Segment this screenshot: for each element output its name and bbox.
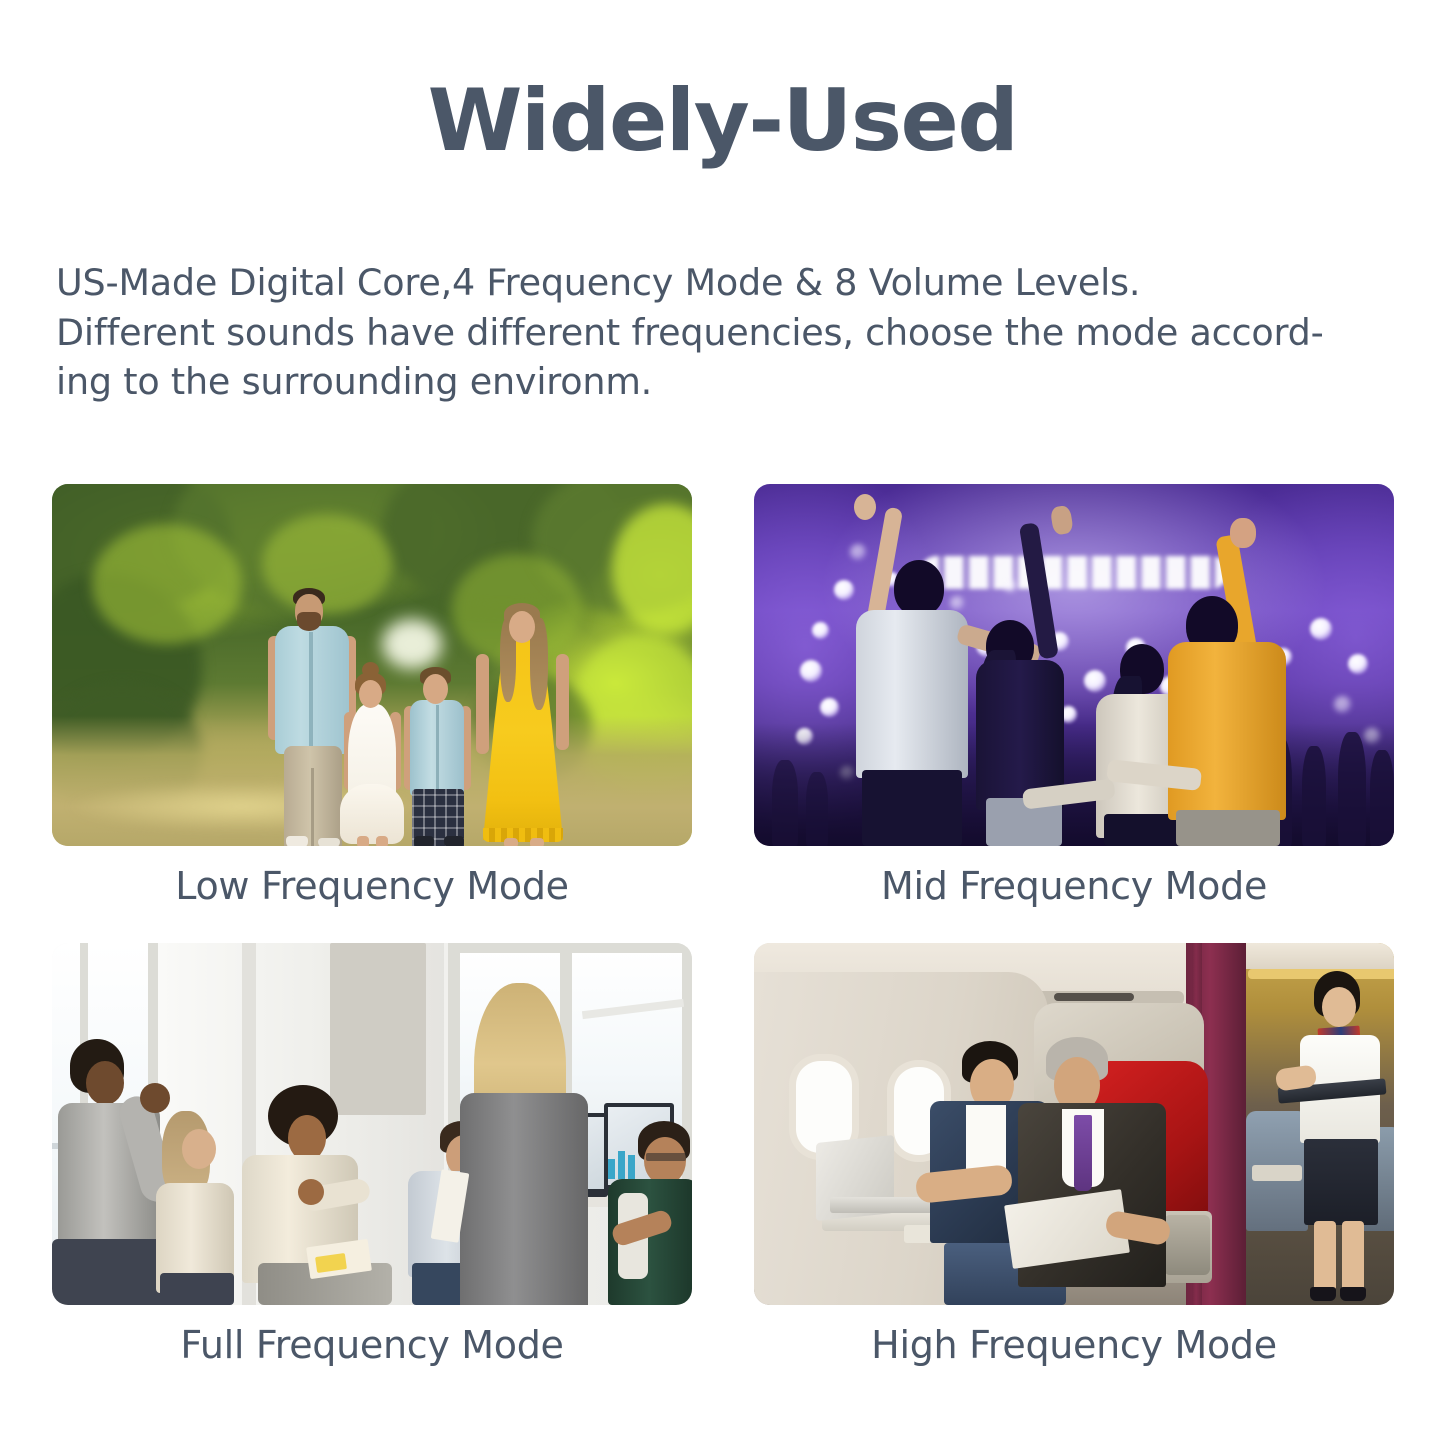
image-office-meeting [52,943,692,1305]
laptop-base [830,1197,934,1213]
image-airplane-cabin [754,943,1394,1305]
card-high-frequency[interactable]: High Frequency Mode [754,943,1394,1367]
card-mid-frequency[interactable]: Mid Frequency Mode [754,484,1394,908]
card-full-frequency[interactable]: Full Frequency Mode [52,943,692,1367]
promo-page: Widely-Used US-Made Digital Core,4 Frequ… [0,0,1445,1445]
necktie [1074,1115,1092,1191]
caption-low-frequency: Low Frequency Mode [52,864,692,908]
caption-high-frequency: High Frequency Mode [754,1323,1394,1367]
image-concert [754,484,1394,846]
caption-mid-frequency: Mid Frequency Mode [754,864,1394,908]
attendant-skirt [1304,1139,1378,1225]
frequency-mode-grid: Low Frequency Mode [52,484,1394,1367]
stage-light-bar [920,556,1227,589]
caption-full-frequency: Full Frequency Mode [52,1323,692,1367]
card-low-frequency[interactable]: Low Frequency Mode [52,484,692,908]
intro-paragraph: US-Made Digital Core,4 Frequency Mode & … [56,258,1396,407]
image-family-park [52,484,692,846]
page-title: Widely-Used [0,76,1445,166]
